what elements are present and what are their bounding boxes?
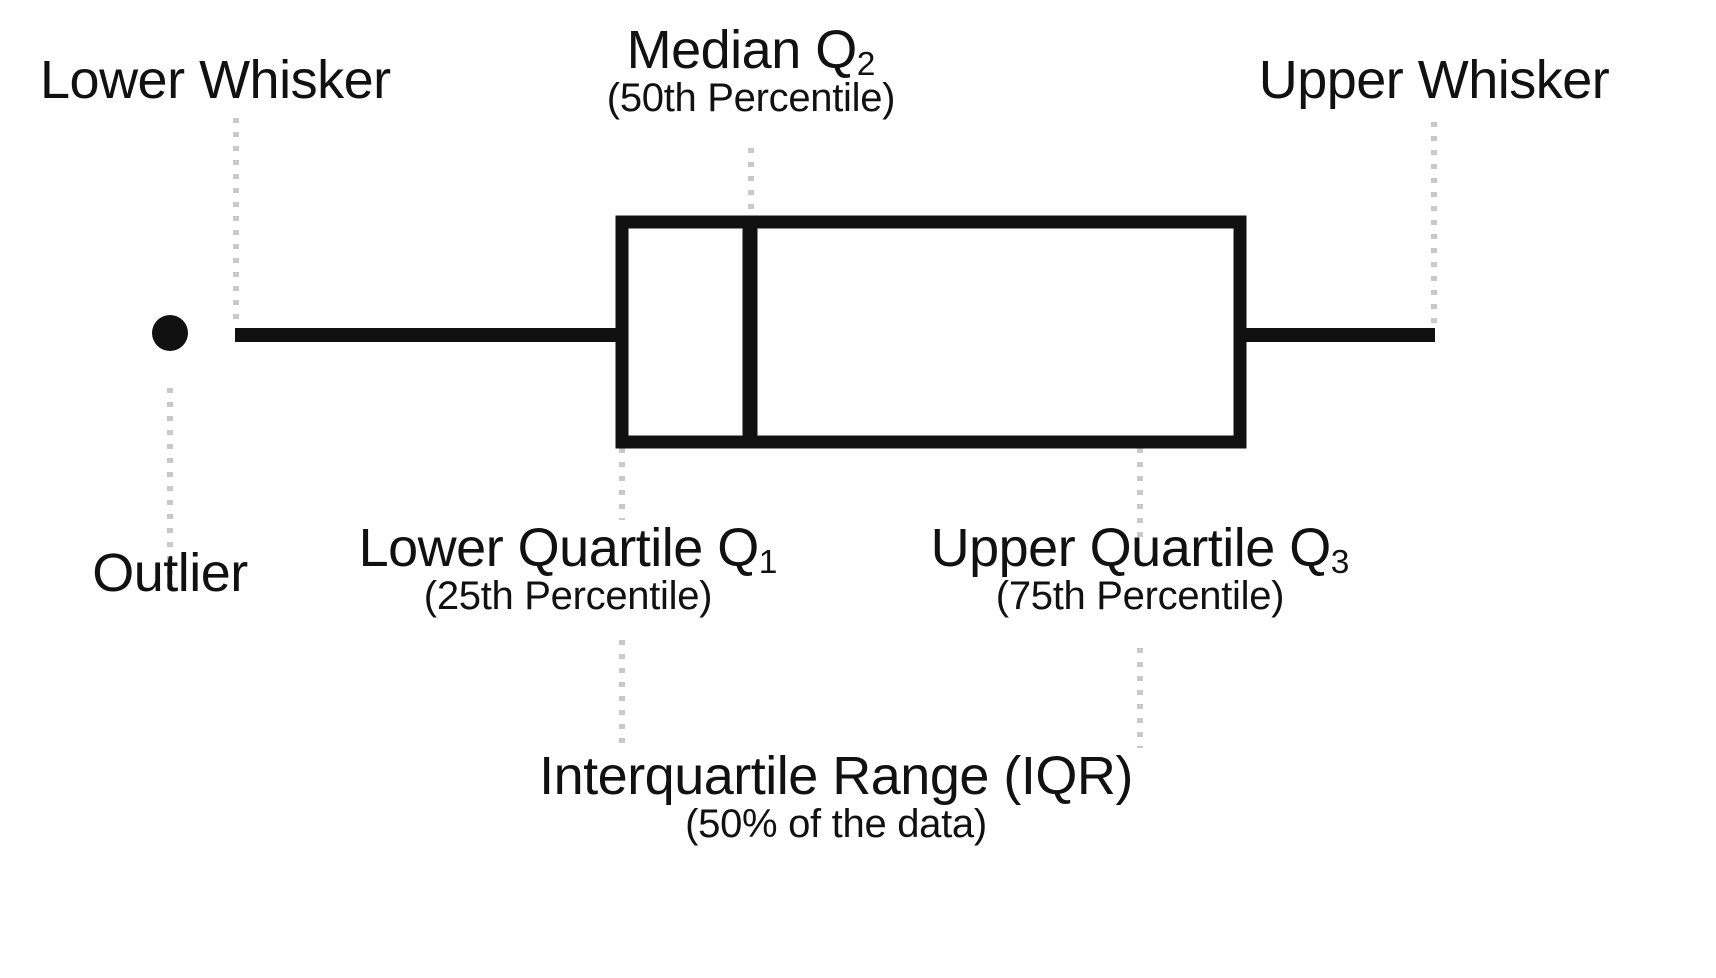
label-lower-quartile-subscript: 1 xyxy=(759,544,778,581)
label-upper-quartile-text: Upper Quartile Q xyxy=(931,518,1331,578)
label-iqr: Interquartile Range (IQR) (50% of the da… xyxy=(539,748,1133,846)
label-lower-quartile: Lower Quartile Q1 (25th Percentile) xyxy=(359,520,778,618)
label-lower-quartile-sub: (25th Percentile) xyxy=(359,576,778,618)
label-iqr-main: Interquartile Range (IQR) xyxy=(539,748,1133,804)
label-median-subscript: 2 xyxy=(857,46,876,83)
label-upper-whisker-main: Upper Whisker xyxy=(1259,52,1610,108)
label-median-sub: (50th Percentile) xyxy=(607,78,895,120)
label-upper-quartile-subscript: 3 xyxy=(1331,544,1350,581)
label-median-main: Median Q2 xyxy=(607,22,895,78)
diagram-canvas: Lower Whisker Median Q2 (50th Percentile… xyxy=(0,0,1716,978)
label-outlier-main: Outlier xyxy=(92,545,248,601)
label-lower-quartile-main: Lower Quartile Q1 xyxy=(359,520,778,576)
iqr-box xyxy=(622,222,1240,442)
label-outlier: Outlier xyxy=(92,545,248,601)
label-median: Median Q2 (50th Percentile) xyxy=(607,22,895,120)
label-lower-whisker-main: Lower Whisker xyxy=(40,52,391,108)
label-upper-quartile: Upper Quartile Q3 (75th Percentile) xyxy=(931,520,1350,618)
label-upper-quartile-sub: (75th Percentile) xyxy=(931,576,1350,618)
outlier-point xyxy=(152,315,188,351)
label-lower-whisker: Lower Whisker xyxy=(40,52,391,108)
label-lower-quartile-text: Lower Quartile Q xyxy=(359,518,759,578)
label-median-text: Median Q xyxy=(627,20,857,80)
label-upper-quartile-main: Upper Quartile Q3 xyxy=(931,520,1350,576)
label-iqr-sub: (50% of the data) xyxy=(539,804,1133,846)
label-upper-whisker: Upper Whisker xyxy=(1259,52,1610,108)
